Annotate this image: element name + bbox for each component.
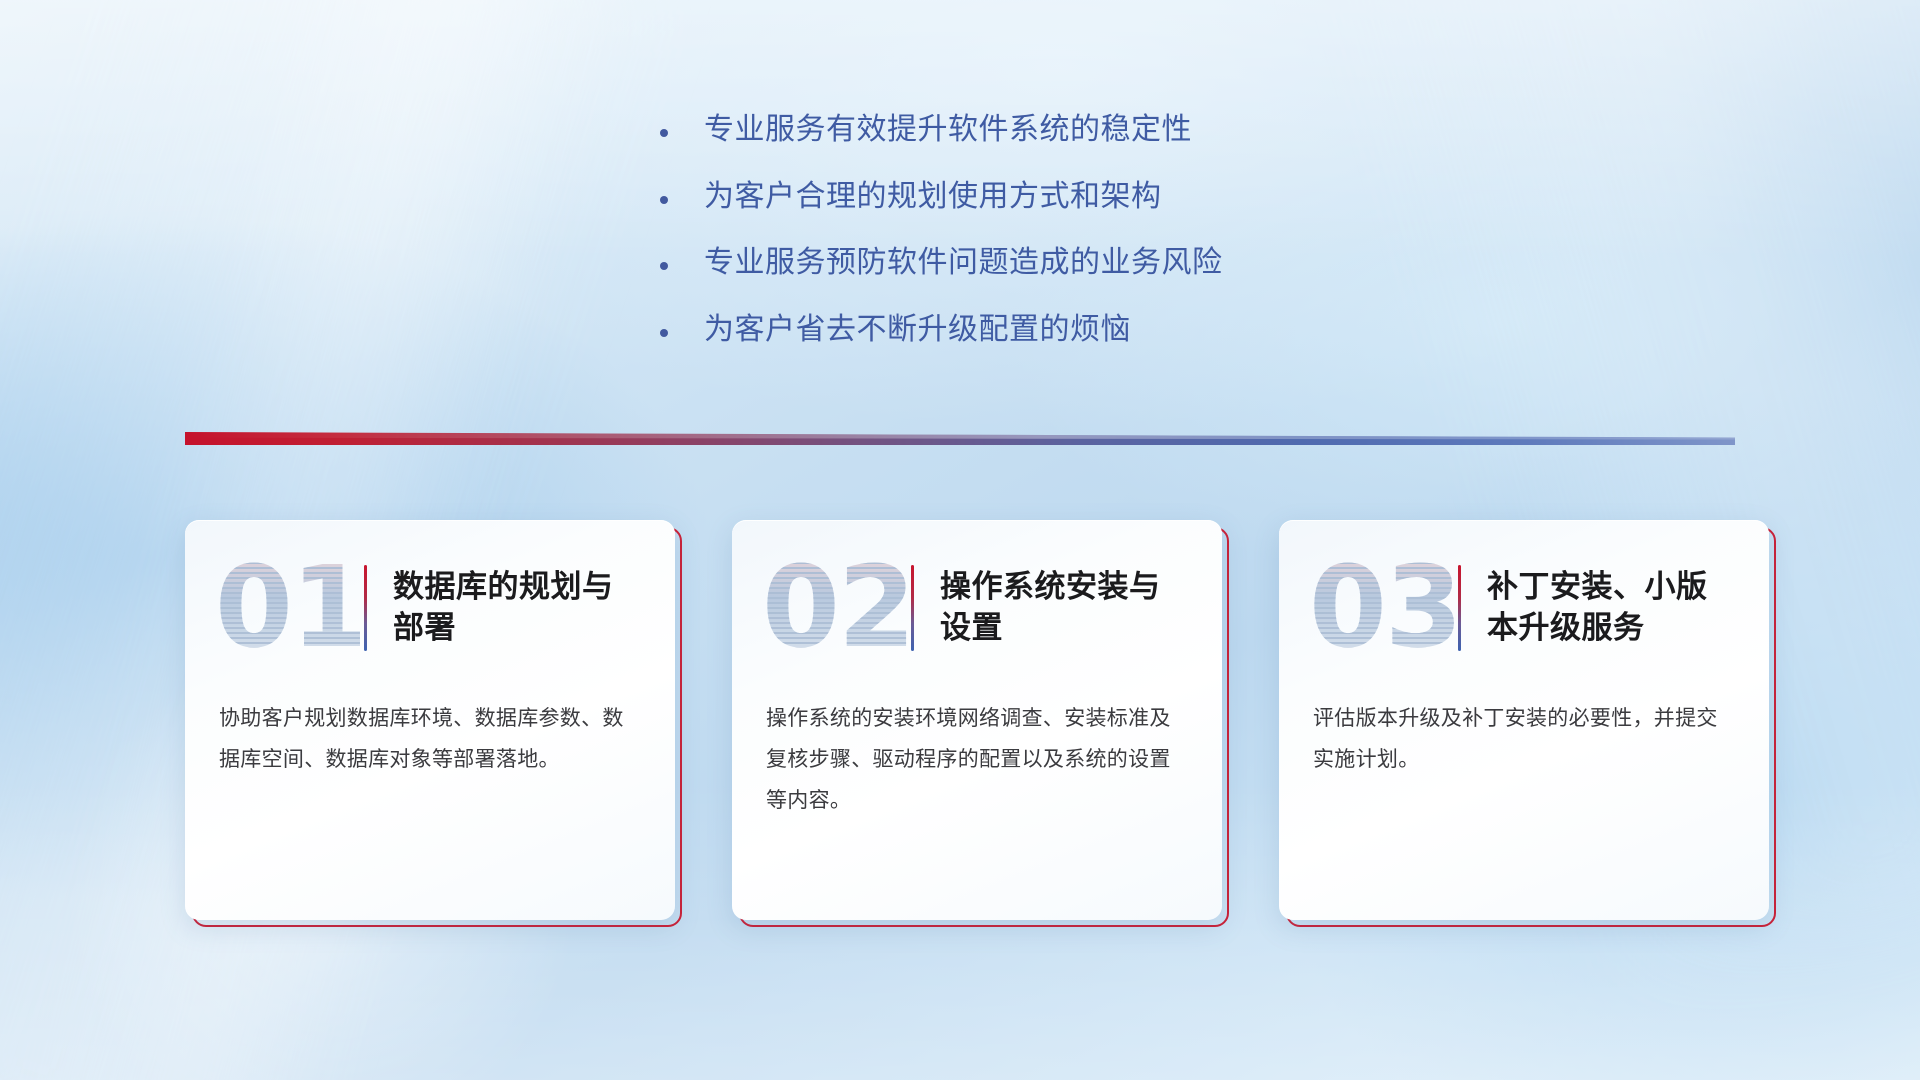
card-number: 03	[1309, 552, 1454, 664]
card-header: 01 数据库的规划与部署	[185, 520, 675, 695]
bullet-dot-icon	[660, 262, 668, 270]
card-title: 操作系统安装与设置	[940, 567, 1190, 649]
bullet-text: 为客户合理的规划使用方式和架构	[704, 177, 1162, 218]
card-group: 01 数据库的规划与部署 协助客户规划数据库环境、数据库参数、数据库空间、数据库…	[185, 520, 1769, 920]
feature-card[interactable]: 01 数据库的规划与部署 协助客户规划数据库环境、数据库参数、数据库空间、数据库…	[185, 520, 675, 920]
card-header: 03 补丁安装、小版本升级服务	[1279, 520, 1769, 695]
bullet-text: 专业服务有效提升软件系统的稳定性	[704, 110, 1192, 151]
card-number: 02	[762, 552, 907, 664]
section-divider	[185, 432, 1735, 448]
list-item: 为客户省去不断升级配置的烦恼	[660, 310, 1223, 351]
card-body-text: 协助客户规划数据库环境、数据库参数、数据库空间、数据库对象等部署落地。	[185, 699, 675, 781]
bullet-dot-icon	[660, 329, 668, 337]
bullet-text: 为客户省去不断升级配置的烦恼	[704, 310, 1131, 351]
bullet-list: 专业服务有效提升软件系统的稳定性 为客户合理的规划使用方式和架构 专业服务预防软…	[660, 110, 1223, 350]
bullet-text: 专业服务预防软件问题造成的业务风险	[704, 243, 1223, 284]
list-item: 为客户合理的规划使用方式和架构	[660, 177, 1223, 218]
card-number: 01	[215, 552, 360, 664]
card-title: 补丁安装、小版本升级服务	[1487, 567, 1737, 649]
card-title: 数据库的规划与部署	[393, 567, 643, 649]
card-body-text: 评估版本升级及补丁安装的必要性，并提交实施计划。	[1279, 699, 1769, 781]
slide-root: 专业服务有效提升软件系统的稳定性 为客户合理的规划使用方式和架构 专业服务预防软…	[0, 0, 1920, 1080]
card-slot-01: 01 数据库的规划与部署 协助客户规划数据库环境、数据库参数、数据库空间、数据库…	[185, 520, 675, 920]
bullet-dot-icon	[660, 196, 668, 204]
feature-card[interactable]: 02 操作系统安装与设置 操作系统的安装环境网络调查、安装标准及复核步骤、驱动程…	[732, 520, 1222, 920]
bullet-dot-icon	[660, 129, 668, 137]
card-slot-03: 03 补丁安装、小版本升级服务 评估版本升级及补丁安装的必要性，并提交实施计划。	[1279, 520, 1769, 920]
card-slot-02: 02 操作系统安装与设置 操作系统的安装环境网络调查、安装标准及复核步骤、驱动程…	[732, 520, 1222, 920]
list-item: 专业服务有效提升软件系统的稳定性	[660, 110, 1223, 151]
card-header: 02 操作系统安装与设置	[732, 520, 1222, 695]
feature-card[interactable]: 03 补丁安装、小版本升级服务 评估版本升级及补丁安装的必要性，并提交实施计划。	[1279, 520, 1769, 920]
card-body-text: 操作系统的安装环境网络调查、安装标准及复核步骤、驱动程序的配置以及系统的设置等内…	[732, 699, 1222, 822]
list-item: 专业服务预防软件问题造成的业务风险	[660, 243, 1223, 284]
